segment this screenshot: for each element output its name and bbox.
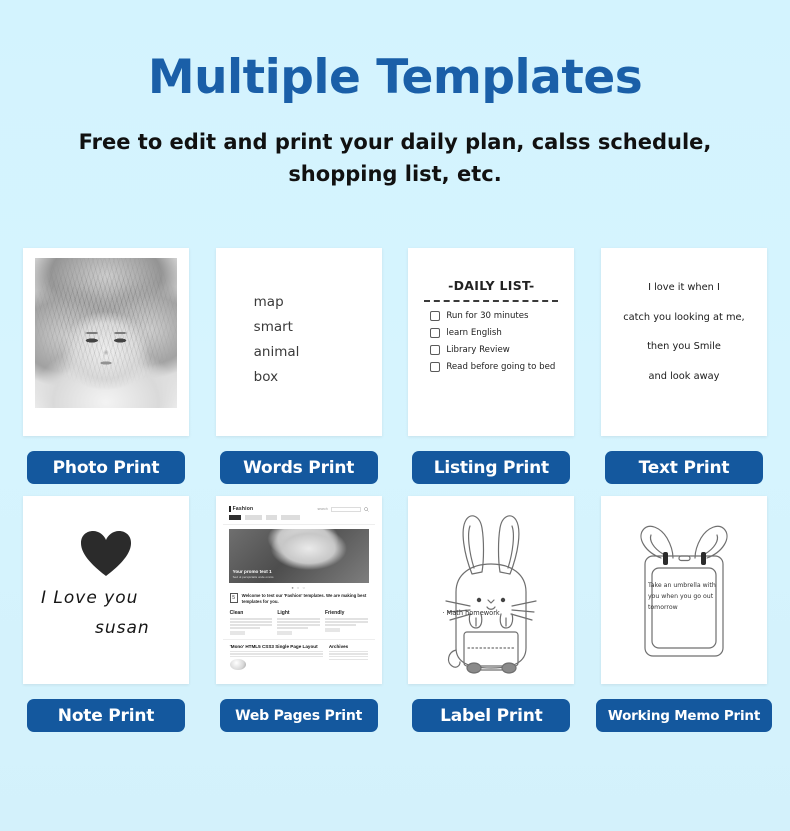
preview-card-working-memo-print[interactable]: Take an umbrella with you when you go ou…	[601, 496, 767, 684]
webpage-nav[interactable]	[223, 515, 375, 525]
words-print-button[interactable]: Words Print	[220, 451, 378, 484]
words-list: map smart animal box	[254, 292, 300, 388]
webpage-search[interactable]: search	[317, 507, 368, 512]
listing-print-button[interactable]: Listing Print	[412, 451, 570, 484]
text-placeholder-line	[230, 618, 273, 619]
preview-card-label-print[interactable]: · Math homework	[408, 496, 574, 684]
feature-title: Friendly	[325, 610, 368, 616]
template-cell-note-print: I Love you susan Note Print	[22, 496, 190, 732]
text-placeholder-line	[277, 627, 308, 628]
portrait-photo-image	[35, 258, 177, 408]
nav-item[interactable]	[281, 515, 300, 520]
checkbox-icon[interactable]	[430, 328, 440, 338]
text-placeholder-line	[325, 621, 368, 622]
template-cell-words-print: map smart animal box Words Print	[215, 248, 383, 484]
text-placeholder-line	[325, 618, 368, 619]
daily-list-title: -DAILY LIST-	[422, 278, 560, 293]
page-root: Multiple Templates Free to edit and prin…	[0, 0, 790, 831]
quote-text-block: I love it when I catch you looking at me…	[601, 248, 767, 384]
text-placeholder-line	[230, 653, 323, 654]
preview-card-web-pages-print[interactable]: Fashion search	[216, 496, 382, 684]
webpage-header: Fashion search	[223, 502, 375, 515]
text-placeholder-line	[230, 621, 273, 622]
template-cell-working-memo-print: Take an umbrella with you when you go ou…	[600, 496, 768, 732]
page-title: Multiple Templates	[0, 52, 790, 104]
checklist-row[interactable]: Library Review	[430, 345, 560, 355]
template-cell-listing-print: -DAILY LIST- Run for 30 minutes learn En…	[407, 248, 575, 484]
photo-frame	[35, 258, 177, 408]
preview-card-photo-print[interactable]	[23, 248, 189, 436]
welcome-text: Welcome to test our 'Fashion' templates.…	[242, 593, 368, 605]
feature-column: Light	[277, 610, 320, 634]
feature-column: Friendly	[325, 610, 368, 634]
template-cell-label-print: · Math homework Label Print	[407, 496, 575, 732]
search-input[interactable]	[331, 507, 361, 512]
text-placeholder-line	[277, 618, 320, 619]
feature-button[interactable]	[325, 628, 340, 632]
webpage-logo: Fashion	[229, 506, 254, 512]
nav-item[interactable]	[266, 515, 277, 520]
feature-button[interactable]	[277, 631, 292, 635]
webpage-hero-image: Your promo text 1 Sed ut perspiciatis un…	[229, 529, 369, 583]
feature-button[interactable]	[230, 631, 245, 635]
page-subtitle: Free to edit and print your daily plan, …	[45, 126, 745, 191]
archive-link[interactable]	[329, 656, 368, 657]
daily-list: -DAILY LIST- Run for 30 minutes learn En…	[408, 248, 574, 372]
heart-icon	[79, 530, 133, 578]
dashed-divider	[424, 300, 558, 302]
web-pages-print-button[interactable]: Web Pages Print	[220, 699, 378, 732]
memo-note-text: Take an umbrella with you when you go ou…	[648, 581, 722, 614]
photo-print-button[interactable]: Photo Print	[27, 451, 185, 484]
text-placeholder-line	[325, 624, 356, 625]
word-item: smart	[254, 317, 300, 338]
webpage-welcome: 5 Welcome to test our 'Fashion' template…	[223, 590, 375, 605]
text-placeholder-line	[277, 621, 320, 622]
feature-title: Clean	[230, 610, 273, 616]
text-placeholder-line	[230, 656, 323, 657]
checklist-row[interactable]: learn English	[430, 328, 560, 338]
word-item: map	[254, 292, 300, 313]
label-print-button[interactable]: Label Print	[412, 699, 570, 732]
text-print-button[interactable]: Text Print	[605, 451, 763, 484]
working-memo-print-button[interactable]: Working Memo Print	[596, 699, 772, 732]
bunny-label-illustration	[408, 496, 574, 684]
note-line-1: I Love you	[41, 588, 138, 608]
note-print-button[interactable]: Note Print	[27, 699, 185, 732]
quote-line: catch you looking at me,	[611, 312, 757, 325]
quote-line: and look away	[611, 371, 757, 384]
checkbox-icon[interactable]	[430, 311, 440, 321]
footer-archives: Archives	[329, 644, 368, 671]
template-row-1: Photo Print map smart animal box Words P…	[22, 248, 768, 484]
label-note-text: · Math homework	[442, 609, 538, 617]
checklist-label: Read before going to bed	[446, 362, 555, 372]
checklist-row[interactable]: Read before going to bed	[430, 362, 560, 372]
word-item: box	[254, 367, 300, 388]
hero-title: Your promo text 1	[233, 569, 274, 574]
footer-article: 'Mono' HTML5 CSS3 Single Page Layout	[230, 644, 323, 671]
preview-card-note-print[interactable]: I Love you susan	[23, 496, 189, 684]
checklist-label: Run for 30 minutes	[446, 311, 528, 321]
text-placeholder-line	[230, 624, 273, 625]
footer-thumbnail	[230, 659, 246, 670]
archive-link[interactable]	[329, 651, 368, 652]
footer-title: 'Mono' HTML5 CSS3 Single Page Layout	[230, 644, 323, 649]
webpage-footer: 'Mono' HTML5 CSS3 Single Page Layout Arc…	[223, 639, 375, 671]
hero-caption: Your promo text 1 Sed ut perspiciatis un…	[233, 569, 274, 579]
archives-title: Archives	[329, 644, 368, 649]
text-placeholder-line	[230, 651, 323, 652]
template-row-2: I Love you susan Note Print Fashion sear…	[22, 496, 768, 732]
preview-card-words-print[interactable]: map smart animal box	[216, 248, 382, 436]
text-placeholder-line	[230, 627, 261, 628]
search-label: search	[317, 507, 327, 511]
hero-subtitle: Sed ut perspiciatis unde omnis	[233, 575, 274, 579]
template-cell-photo-print: Photo Print	[22, 248, 190, 484]
archive-link[interactable]	[329, 653, 368, 654]
search-icon	[364, 507, 369, 512]
note-line-2: susan	[95, 618, 150, 638]
text-placeholder-line	[277, 624, 320, 625]
checkbox-icon[interactable]	[430, 362, 440, 372]
checklist-label: learn English	[446, 328, 502, 338]
html5-badge-icon: 5	[230, 593, 238, 603]
feature-column: Clean	[230, 610, 273, 634]
template-cell-text-print: I love it when I catch you looking at me…	[600, 248, 768, 484]
template-cell-web-pages-print: Fashion search	[215, 496, 383, 732]
nav-item[interactable]	[229, 515, 241, 520]
template-grid: Photo Print map smart animal box Words P…	[0, 248, 790, 732]
webpage-feature-columns: Clean Light	[223, 605, 375, 634]
preview-card-listing-print[interactable]: -DAILY LIST- Run for 30 minutes learn En…	[408, 248, 574, 436]
nav-item[interactable]	[245, 515, 262, 520]
header: Multiple Templates Free to edit and prin…	[0, 0, 790, 191]
webpage-mockup: Fashion search	[223, 502, 375, 678]
preview-card-text-print[interactable]: I love it when I catch you looking at me…	[601, 248, 767, 436]
word-item: animal	[254, 342, 300, 363]
archive-link[interactable]	[329, 659, 368, 660]
checklist-label: Library Review	[446, 345, 509, 355]
quote-line: then you Smile	[611, 341, 757, 354]
checkbox-icon[interactable]	[430, 345, 440, 355]
quote-line: I love it when I	[611, 282, 757, 295]
checklist-row[interactable]: Run for 30 minutes	[430, 311, 560, 321]
feature-title: Light	[277, 610, 320, 616]
